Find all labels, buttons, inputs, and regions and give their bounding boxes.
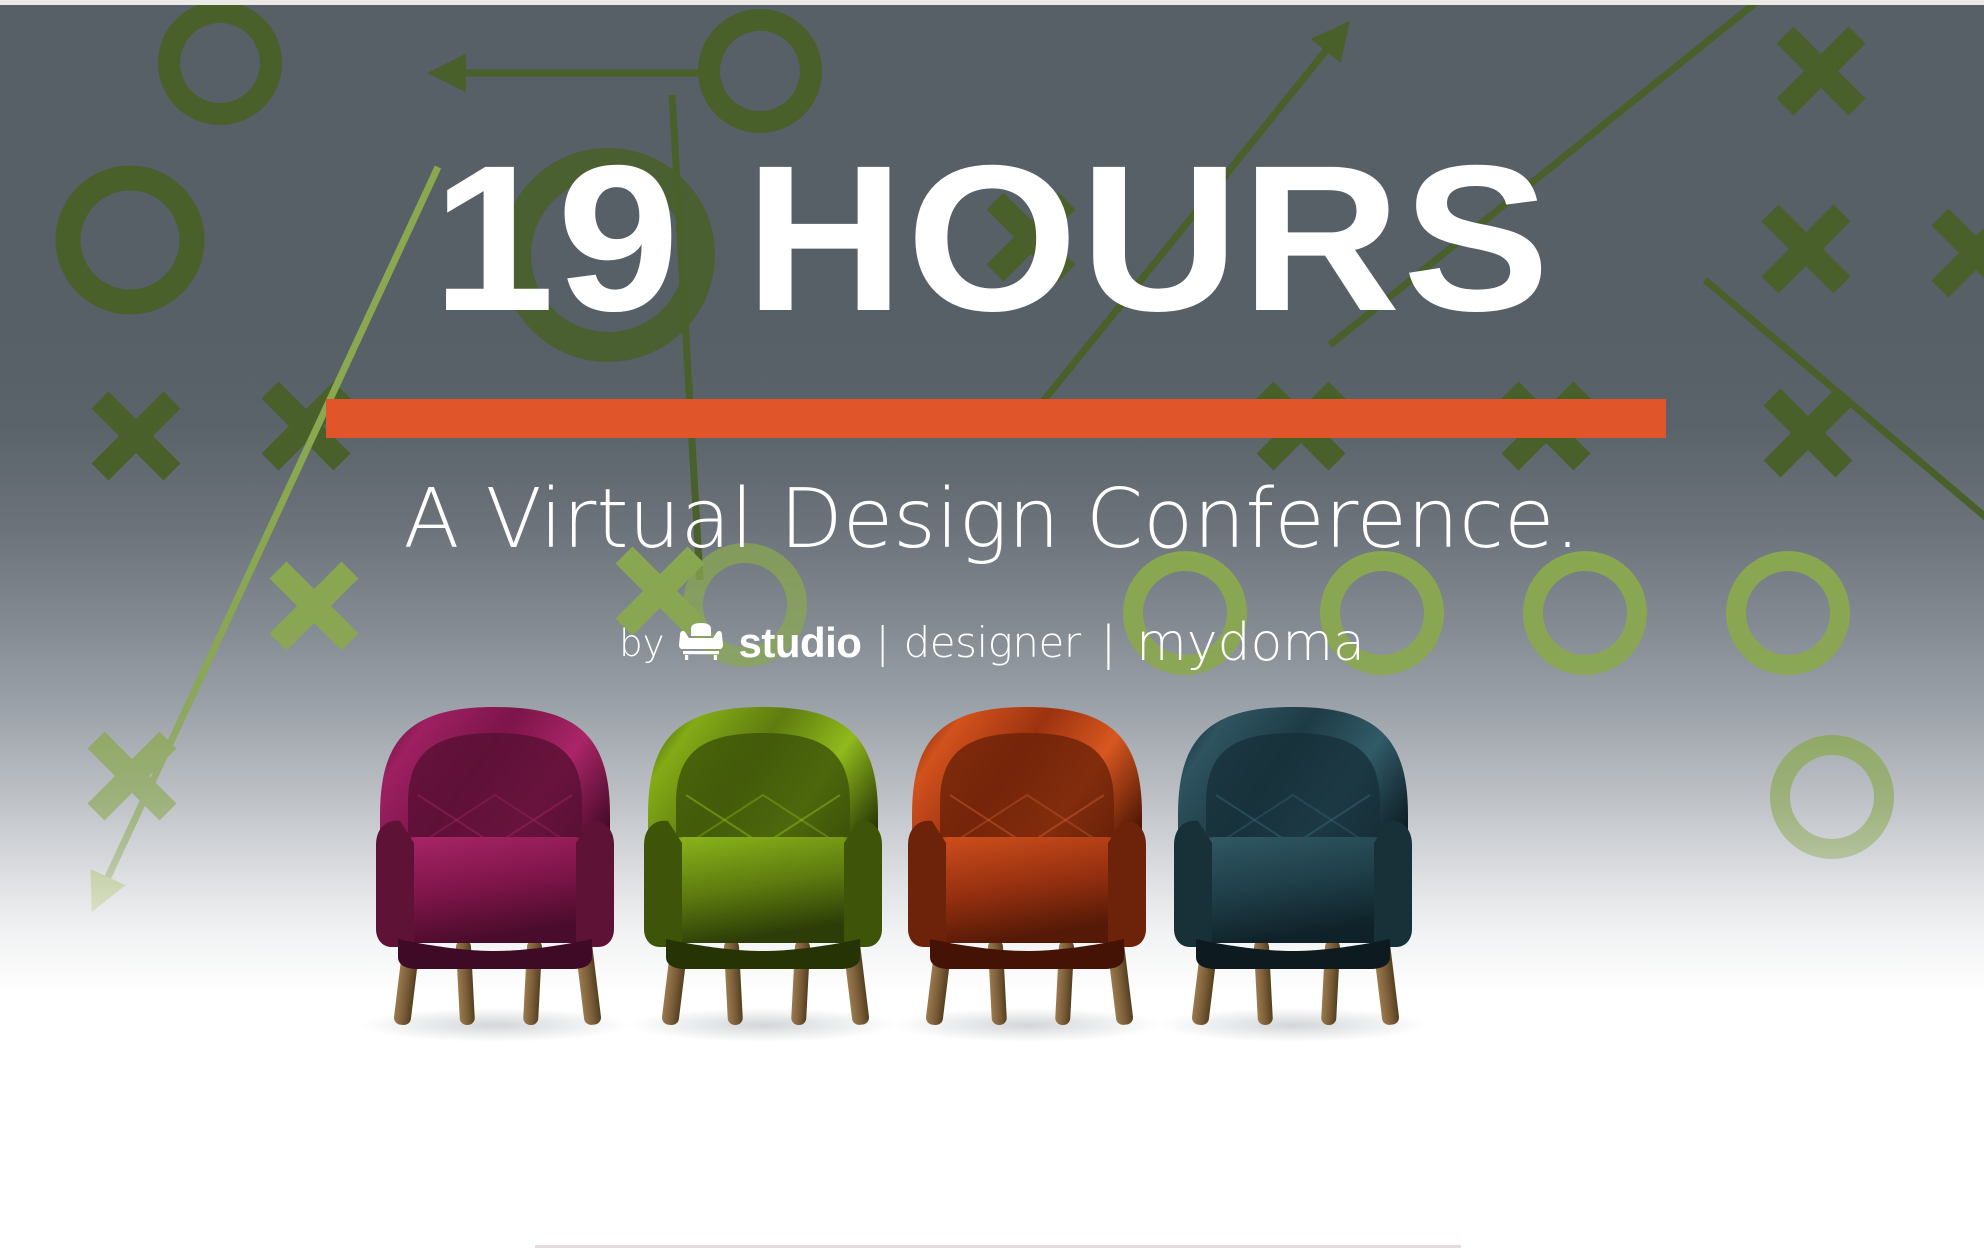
page-root: 19 HOURS A Virtual Design Conference. by…: [0, 0, 1984, 1254]
logo-separator: |: [875, 622, 889, 664]
orange-velvet-armchair: [872, 695, 1182, 1045]
logo-mydoma-text: mydoma: [1136, 617, 1365, 669]
logo-pipe-divider: |: [1101, 620, 1117, 666]
armchair-icon: [678, 622, 724, 665]
teal-velvet-armchair: [1138, 695, 1448, 1045]
logo-designer-text: designer: [904, 622, 1081, 664]
ring-decor: [709, 20, 811, 122]
lower-content-area: [0, 1065, 1984, 1254]
cross-decor: [1785, 35, 1857, 107]
top-strip: [0, 0, 1984, 5]
cross-decor: [1772, 397, 1844, 469]
byline-by-label: by: [619, 625, 664, 662]
page-subtitle: A Virtual Design Conference.: [0, 479, 1984, 561]
section-divider: [535, 1245, 1461, 1248]
accent-bar: [326, 399, 1666, 438]
magenta-velvet-armchair: [340, 695, 650, 1045]
page-title: 19 HOURS: [0, 135, 1984, 343]
hero-banner: 19 HOURS A Virtual Design Conference. by…: [0, 5, 1984, 1065]
ring-decor: [169, 12, 271, 114]
byline-logos: by studio | designer | mydoma: [0, 617, 1984, 669]
cross-decor: [100, 400, 172, 472]
chair-row: [0, 695, 1984, 1055]
logo-studio-text: studio: [738, 622, 861, 664]
